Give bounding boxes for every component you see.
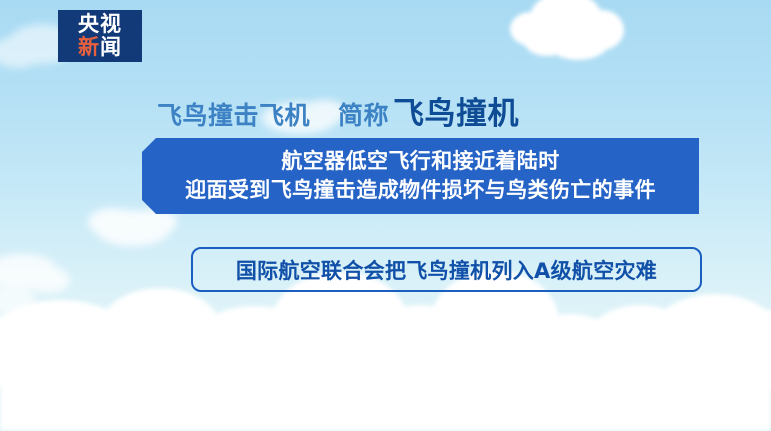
logo-line-news: 新闻 (78, 37, 122, 58)
title-abbrev-term: 飞鸟撞机 (393, 88, 519, 133)
page-title: 飞鸟撞击飞机 简称 飞鸟撞机 (157, 88, 519, 133)
cloud-top-right (510, 0, 624, 60)
title-abbrev-label: 简称 (338, 96, 389, 132)
cloud-far-left (0, 254, 70, 293)
classification-note-text: 国际航空联合会把飞鸟撞机列入A级航空灾难 (236, 255, 657, 285)
logo-line-cctv: 央视 (78, 14, 122, 35)
title-term-full: 飞鸟撞击飞机 (157, 96, 310, 132)
cloud-background (0, 0, 771, 431)
infographic-canvas: 央视 新闻 飞鸟撞击飞机 简称 飞鸟撞机 航空器低空飞行和接近着陆时 迎面受到飞… (0, 0, 771, 431)
logo-char-wen: 闻 (100, 35, 122, 59)
cloud-bank-bottom (0, 270, 771, 431)
definition-banner: 航空器低空飞行和接近着陆时 迎面受到飞鸟撞击造成物件损坏与鸟类伤亡的事件 (142, 138, 699, 214)
cctv-news-logo: 央视 新闻 (58, 10, 142, 62)
cloud-left-lower (0, 286, 36, 314)
classification-note-box: 国际航空联合会把飞鸟撞机列入A级航空灾难 (191, 247, 702, 292)
logo-char-xin: 新 (78, 35, 100, 59)
definition-line-1: 航空器低空飞行和接近着陆时 (281, 147, 559, 176)
definition-line-2: 迎面受到飞鸟撞击造成物件损坏与鸟类伤亡的事件 (185, 176, 656, 205)
